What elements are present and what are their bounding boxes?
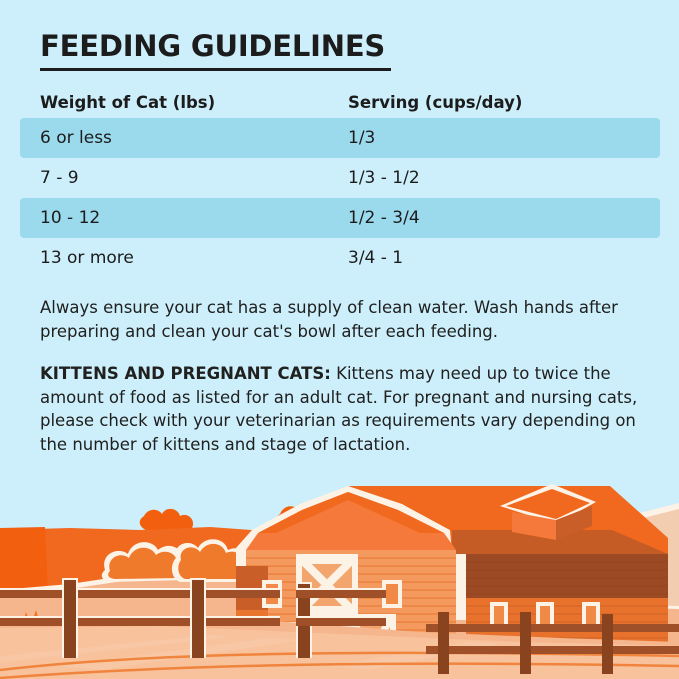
kittens-note: KITTENS AND PREGNANT CATS: Kittens may n… [40, 362, 640, 456]
farm-scene-svg [0, 470, 679, 679]
mid-hill-left-block [0, 527, 48, 590]
table-row: 6 or less 1/3 [0, 118, 679, 158]
cell-serving: 1/3 - 1/2 [348, 158, 420, 198]
cell-serving: 1/3 [348, 118, 375, 158]
cell-weight: 6 or less [40, 118, 112, 158]
cell-weight: 10 - 12 [40, 198, 100, 238]
table-row: 7 - 9 1/3 - 1/2 [0, 158, 679, 198]
farm-illustration [0, 470, 679, 679]
cell-serving: 3/4 - 1 [348, 238, 403, 278]
water-note: Always ensure your cat has a supply of c… [40, 296, 640, 343]
table-row: 10 - 12 1/2 - 3/4 [0, 198, 679, 238]
cell-weight: 13 or more [40, 238, 134, 278]
title-underline [40, 68, 391, 71]
cell-weight: 7 - 9 [40, 158, 79, 198]
table-row: 13 or more 3/4 - 1 [0, 238, 679, 278]
column-header-serving: Serving (cups/day) [348, 88, 522, 118]
page-title: FEEDING GUIDELINES [40, 32, 385, 61]
column-header-weight: Weight of Cat (lbs) [40, 88, 215, 118]
table-header-row: Weight of Cat (lbs) Serving (cups/day) [0, 88, 679, 118]
feeding-guidelines-panel: FEEDING GUIDELINES Weight of Cat (lbs) S… [0, 0, 679, 679]
feeding-table: Weight of Cat (lbs) Serving (cups/day) 6… [0, 88, 679, 278]
kittens-note-label: KITTENS AND PREGNANT CATS: [40, 364, 331, 383]
cell-serving: 1/2 - 3/4 [348, 198, 420, 238]
